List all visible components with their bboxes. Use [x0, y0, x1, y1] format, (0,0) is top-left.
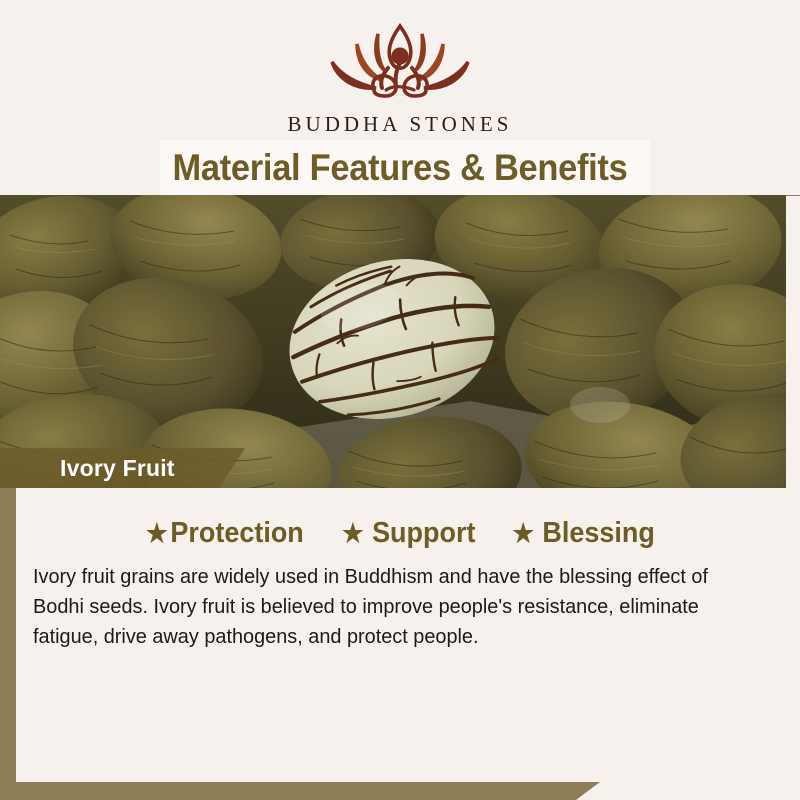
star-icon: ★ — [512, 520, 534, 546]
photo-caption-banner: Ivory Fruit — [0, 448, 245, 488]
benefit-item-blessing: ★ Blessing — [512, 517, 654, 550]
brand-logo: BUDDHA STONES — [0, 18, 800, 137]
star-icon: ★ — [146, 520, 168, 546]
frame-corner-bottom-left — [0, 782, 600, 800]
benefit-label: Support — [372, 517, 475, 550]
brand-name: BUDDHA STONES — [0, 112, 800, 137]
photo-caption-text: Ivory Fruit — [0, 455, 175, 482]
benefits-row: ★ Protection ★ Support ★ Blessing — [0, 512, 800, 554]
infographic-page: BUDDHA STONES Material Features & Benefi… — [0, 0, 800, 800]
photo-illustration — [0, 195, 786, 488]
star-icon: ★ — [342, 520, 364, 546]
header-section: BUDDHA STONES — [0, 0, 800, 143]
benefit-label: Blessing — [542, 517, 654, 550]
description-text: Ivory fruit grains are widely used in Bu… — [33, 562, 728, 652]
lotus-meditation-icon — [312, 18, 488, 110]
ivory-fruit-nuts-photo — [0, 195, 786, 488]
benefit-item-support: ★ Support — [342, 517, 475, 550]
benefit-label: Protection — [170, 517, 303, 550]
page-title: Material Features & Benefits — [28, 140, 772, 195]
benefit-item-protection: ★ Protection — [146, 517, 304, 550]
